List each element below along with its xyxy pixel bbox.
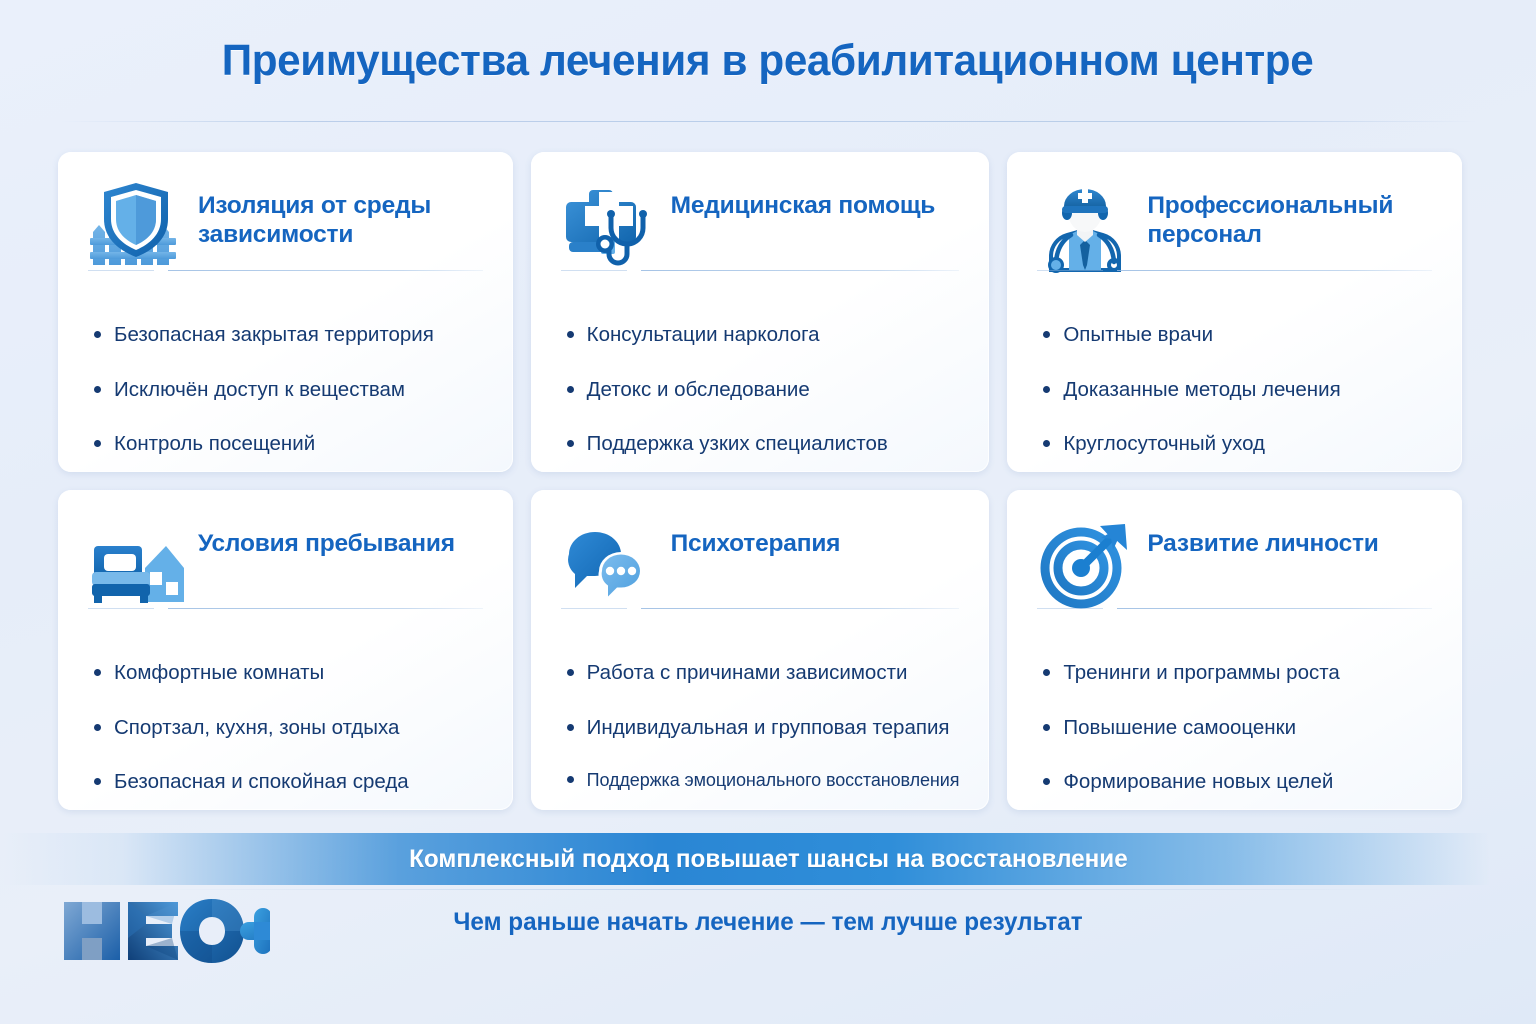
card-divider-left: [88, 608, 154, 609]
card-title: Изоляция от среды зависимости: [198, 178, 483, 250]
bullet-dot-icon: [1043, 440, 1050, 447]
target-arrow-icon: [1037, 516, 1133, 612]
card-bullet-list: Безопасная закрытая территория Исключён …: [88, 274, 483, 457]
card-bullet-list: Консультации нарколога Детокс и обследов…: [561, 274, 960, 457]
list-item: Работа с причинами зависимости: [567, 660, 960, 686]
bullet-dot-icon: [94, 331, 101, 338]
list-item: Тренинги и программы роста: [1043, 660, 1432, 686]
page-footer: Чем раньше начать лечение — тем лучше ре…: [0, 886, 1536, 986]
card-header: Профессиональный персонал: [1037, 178, 1432, 274]
bullet-dot-icon: [94, 669, 101, 676]
card-header: Условия пребывания: [88, 516, 483, 612]
card-title: Развитие личности: [1147, 516, 1378, 559]
shield-fence-icon: [88, 178, 184, 274]
card-divider: [168, 608, 483, 609]
list-item: Детокс и обследование: [567, 377, 960, 403]
card-divider-left: [1037, 270, 1103, 271]
bullet-dot-icon: [567, 440, 574, 447]
benefits-grid: Изоляция от среды зависимости Безопасная…: [58, 152, 1462, 810]
bullet-dot-icon: [94, 440, 101, 447]
bullet-dot-icon: [1043, 331, 1050, 338]
summary-banner: Комплексный подход повышает шансы на вос…: [0, 833, 1536, 885]
list-item: Поддержка узких специалистов: [567, 431, 960, 457]
card-title: Профессиональный персонал: [1147, 178, 1432, 250]
card-divider: [168, 270, 483, 271]
list-item: Формирование новых целей: [1043, 769, 1432, 795]
card-title: Психотерапия: [671, 516, 841, 559]
bullet-dot-icon: [567, 776, 574, 783]
bullet-dot-icon: [567, 331, 574, 338]
page-title: Преимущества лечения в реабилитационном …: [222, 36, 1314, 86]
summary-banner-text: Комплексный подход повышает шансы на вос…: [409, 845, 1128, 874]
card-bullet-list: Тренинги и программы роста Повышение сам…: [1037, 612, 1432, 795]
list-item: Поддержка эмоционального восстановления: [567, 769, 960, 792]
benefit-card-medical-help[interactable]: Медицинская помощь Консультации нарколог…: [531, 152, 990, 472]
card-bullet-list: Опытные врачи Доказанные методы лечения …: [1037, 274, 1432, 457]
card-title: Условия пребывания: [198, 516, 455, 559]
card-divider: [641, 270, 960, 271]
card-divider: [1117, 270, 1432, 271]
card-divider-left: [88, 270, 154, 271]
footer-tagline: Чем раньше начать лечение — тем лучше ре…: [23, 908, 1513, 937]
bullet-dot-icon: [94, 386, 101, 393]
card-bullet-list: Работа с причинами зависимости Индивидуа…: [561, 612, 960, 792]
bullet-dot-icon: [567, 669, 574, 676]
benefit-card-psychotherapy[interactable]: Психотерапия Работа с причинами зависимо…: [531, 490, 990, 810]
benefit-card-isolation[interactable]: Изоляция от среды зависимости Безопасная…: [58, 152, 513, 472]
bullet-dot-icon: [1043, 669, 1050, 676]
bed-house-icon: [88, 516, 184, 612]
card-header: Развитие личности: [1037, 516, 1432, 612]
bullet-dot-icon: [1043, 724, 1050, 731]
bullet-dot-icon: [1043, 778, 1050, 785]
card-title: Медицинская помощь: [671, 178, 936, 221]
card-header: Психотерапия: [561, 516, 960, 612]
bullet-dot-icon: [94, 778, 101, 785]
card-divider-left: [1037, 608, 1103, 609]
card-divider: [641, 608, 960, 609]
header-divider: [60, 121, 1476, 122]
list-item: Опытные врачи: [1043, 322, 1432, 348]
list-item: Комфортные комнаты: [94, 660, 483, 686]
list-item: Безопасная закрытая территория: [94, 322, 483, 348]
medical-bag-stethoscope-icon: [561, 178, 657, 274]
card-header: Медицинская помощь: [561, 178, 960, 274]
list-item: Круглосуточный уход: [1043, 431, 1432, 457]
list-item: Консультации нарколога: [567, 322, 960, 348]
bullet-dot-icon: [94, 724, 101, 731]
benefit-card-professional-staff[interactable]: Профессиональный персонал Опытные врачи …: [1007, 152, 1462, 472]
card-divider: [1117, 608, 1432, 609]
list-item: Спортзал, кухня, зоны отдыха: [94, 715, 483, 741]
card-divider-left: [561, 270, 627, 271]
list-item: Исключён доступ к веществам: [94, 377, 483, 403]
card-divider-left: [561, 608, 627, 609]
benefit-card-accommodation[interactable]: Условия пребывания Комфортные комнаты Сп…: [58, 490, 513, 810]
list-item: Контроль посещений: [94, 431, 483, 457]
benefit-card-personal-growth[interactable]: Развитие личности Тренинги и программы р…: [1007, 490, 1462, 810]
doctor-icon: [1037, 178, 1133, 274]
bullet-dot-icon: [567, 724, 574, 731]
speech-bubbles-icon: [561, 516, 657, 612]
card-bullet-list: Комфортные комнаты Спортзал, кухня, зоны…: [88, 612, 483, 795]
list-item: Безопасная и спокойная среда: [94, 769, 483, 795]
bullet-dot-icon: [567, 386, 574, 393]
page-header: Преимущества лечения в реабилитационном …: [0, 0, 1536, 122]
bullet-dot-icon: [1043, 386, 1050, 393]
list-item: Индивидуальная и групповая терапия: [567, 715, 960, 741]
card-header: Изоляция от среды зависимости: [88, 178, 483, 274]
list-item: Доказанные методы лечения: [1043, 377, 1432, 403]
list-item: Повышение самооценки: [1043, 715, 1432, 741]
